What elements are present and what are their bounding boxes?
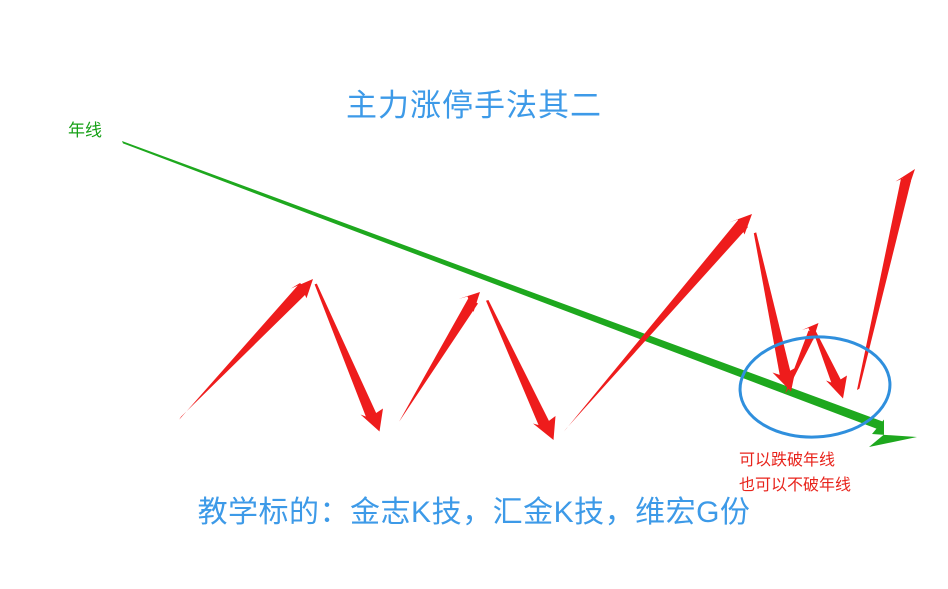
- arrow-segment-9-up: [857, 169, 915, 390]
- arrow-shaft: [399, 298, 478, 422]
- arrow-shaft: [564, 220, 748, 432]
- arrow-segment-6-down: [754, 232, 796, 391]
- arrow-shaft: [486, 300, 551, 429]
- trendline-label: 年线: [68, 121, 102, 141]
- arrow-segment-7-up: [785, 323, 819, 394]
- arrow-segment-4-down: [486, 300, 556, 440]
- trendline-annual: [122, 141, 917, 447]
- page-title: 主力涨停手法其二: [0, 88, 948, 124]
- diagram-canvas: 主力涨停手法其二 年线 可以跌破年线 也可以不破年线 教学标的：金志K技，汇金K…: [0, 0, 948, 589]
- arrow-shaft: [857, 179, 911, 391]
- arrow-segment-2-down: [315, 284, 383, 432]
- caption-text: 教学标的：金志K技，汇金K技，维宏G份: [0, 496, 948, 531]
- arrow-segment-3-up: [399, 292, 480, 422]
- arrow-segment-5-up: [564, 214, 752, 432]
- note-text-line-2: 也可以不破年线: [739, 477, 851, 495]
- arrow-segment-1-up: [179, 279, 313, 420]
- note-text-line-1: 可以跌破年线: [739, 452, 835, 470]
- trendline-body: [122, 141, 884, 432]
- arrow-shaft: [179, 283, 309, 420]
- arrow-shaft: [315, 284, 378, 420]
